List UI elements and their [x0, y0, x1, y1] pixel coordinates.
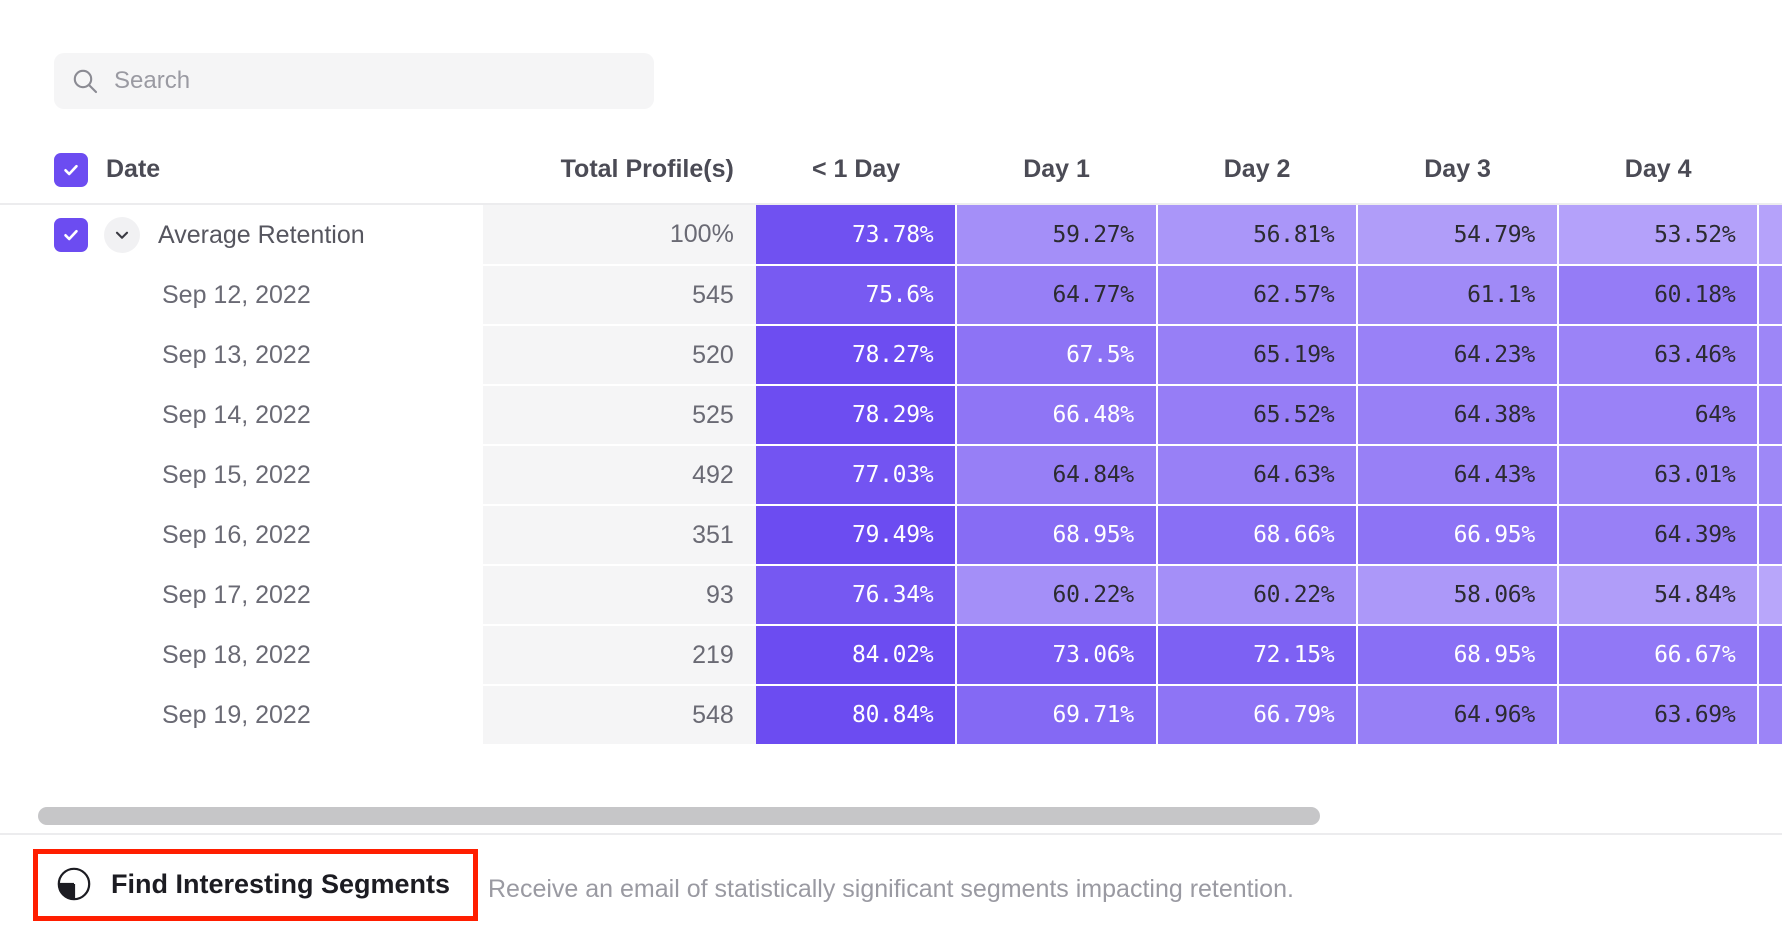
cell-retention-value: 64.96% — [1357, 685, 1558, 745]
cell-total-profiles: 93 — [483, 565, 756, 625]
cell-retention-value: 54.84% — [1558, 565, 1759, 625]
table-row[interactable]: Sep 12, 202254575.6%64.77%62.57%61.1%60.… — [0, 265, 1782, 325]
cell-retention-value: 65.19% — [1157, 325, 1358, 385]
cell-retention-value: 79.49% — [756, 505, 957, 565]
table-row[interactable]: Sep 16, 202235179.49%68.95%68.66%66.95%6… — [0, 505, 1782, 565]
cell-retention-value: 73.06% — [956, 625, 1157, 685]
row-label-date: Sep 18, 2022 — [0, 625, 483, 685]
cell-retention-value: 63.24% — [1758, 385, 1782, 445]
find-interesting-segments-button[interactable]: Find Interesting Segments — [55, 865, 450, 903]
column-header-date-label: Date — [106, 155, 160, 184]
row-label-text: Sep 15, 2022 — [162, 461, 311, 490]
retention-table-scroll[interactable]: Date Total Profile(s) < 1 Day Day 1 Day … — [0, 136, 1782, 796]
cell-retention-value: 63.01% — [1558, 445, 1759, 505]
cell-retention-value: 63.25% — [1758, 505, 1782, 565]
cell-retention-value: 64.77% — [956, 265, 1157, 325]
cell-retention-value: 63.46% — [1558, 325, 1759, 385]
cell-retention-value: 72.15% — [1157, 625, 1358, 685]
cell-retention-value: 77.03% — [756, 445, 957, 505]
row-label-text: Sep 14, 2022 — [162, 401, 311, 430]
cell-retention-value: 64.38% — [1357, 385, 1558, 445]
row-label-date: Sep 17, 2022 — [0, 565, 483, 625]
cell-retention-value: 68.95% — [956, 505, 1157, 565]
cell-retention-value: 64.23% — [1357, 325, 1558, 385]
row-label-text: Average Retention — [158, 221, 365, 250]
row-label-text: Sep 17, 2022 — [162, 581, 311, 610]
cell-retention-value: 59.27% — [956, 204, 1157, 265]
column-header-date: Date — [0, 136, 483, 204]
column-header-day-2[interactable]: Day 2 — [1157, 136, 1358, 204]
search-icon — [72, 68, 98, 94]
cell-retention-value: 62.69% — [1758, 325, 1782, 385]
row-label-date: Sep 13, 2022 — [0, 325, 483, 385]
cell-retention-value: 51.61% — [1758, 565, 1782, 625]
column-header-lt-1-day[interactable]: < 1 Day — [756, 136, 957, 204]
table-row[interactable]: Average Retention100%73.78%59.27%56.81%5… — [0, 204, 1782, 265]
row-label-text: Sep 16, 2022 — [162, 521, 311, 550]
row-label-date: Sep 15, 2022 — [0, 445, 483, 505]
cell-retention-value: 64% — [1558, 385, 1759, 445]
row-label-date: Sep 19, 2022 — [0, 685, 483, 745]
cell-total-profiles: 520 — [483, 325, 756, 385]
cell-total-profiles: 100% — [483, 204, 756, 265]
cell-retention-value: 73.78% — [756, 204, 957, 265]
find-interesting-segments-label: Find Interesting Segments — [111, 869, 450, 900]
cell-retention-value: 84.02% — [756, 625, 957, 685]
cell-retention-value: 64.63% — [1157, 445, 1358, 505]
cell-retention-value: 75.6% — [756, 265, 957, 325]
column-header-day-4[interactable]: Day 4 — [1558, 136, 1759, 204]
segment-pie-icon — [55, 865, 93, 903]
cell-retention-value: 63.32% — [1758, 685, 1782, 745]
cell-retention-value: 67.5% — [956, 325, 1157, 385]
cell-retention-value: 66.67% — [1558, 625, 1759, 685]
cell-retention-value: 61.1% — [1357, 265, 1558, 325]
cell-retention-value: 65.52% — [1157, 385, 1358, 445]
cell-retention-value: 66.21% — [1758, 625, 1782, 685]
horizontal-scrollbar-thumb[interactable] — [38, 807, 1320, 825]
table-body: Average Retention100%73.78%59.27%56.81%5… — [0, 204, 1782, 745]
row-label-text: Sep 13, 2022 — [162, 341, 311, 370]
cell-retention-value: 64.39% — [1558, 505, 1759, 565]
cell-retention-value: 60.18% — [1558, 265, 1759, 325]
column-header-total-profiles[interactable]: Total Profile(s) — [483, 136, 756, 204]
cell-retention-value: 80.84% — [756, 685, 957, 745]
row-label-text: Sep 19, 2022 — [162, 701, 311, 730]
column-header-day-3[interactable]: Day 3 — [1357, 136, 1558, 204]
cell-retention-value: 54.79% — [1357, 204, 1558, 265]
cell-retention-value: 76.34% — [756, 565, 957, 625]
table-row[interactable]: Sep 15, 202249277.03%64.84%64.63%64.43%6… — [0, 445, 1782, 505]
table-row[interactable]: Sep 13, 202252078.27%67.5%65.19%64.23%63… — [0, 325, 1782, 385]
retention-table: Date Total Profile(s) < 1 Day Day 1 Day … — [0, 136, 1782, 746]
search-box[interactable] — [54, 53, 654, 109]
cell-retention-value: 66.95% — [1357, 505, 1558, 565]
cell-retention-value: 58.06% — [1357, 565, 1558, 625]
row-label-date: Sep 12, 2022 — [0, 265, 483, 325]
cell-retention-value: 68.95% — [1357, 625, 1558, 685]
cell-retention-value: 60.22% — [956, 565, 1157, 625]
row-label-text: Sep 12, 2022 — [162, 281, 311, 310]
cell-retention-value: 78.29% — [756, 385, 957, 445]
cell-retention-value: 64.84% — [956, 445, 1157, 505]
row-checkbox[interactable] — [54, 218, 88, 252]
column-header-day-5[interactable]: Day 5 — [1758, 136, 1782, 204]
row-label-date: Sep 14, 2022 — [0, 385, 483, 445]
cell-retention-value: 53.26% — [1758, 204, 1782, 265]
cell-retention-value: 60.22% — [1157, 565, 1358, 625]
cell-retention-value: 62.57% — [1157, 265, 1358, 325]
cell-total-profiles: 219 — [483, 625, 756, 685]
cell-retention-value: 56.81% — [1157, 204, 1358, 265]
cell-total-profiles: 545 — [483, 265, 756, 325]
cell-retention-value: 66.48% — [956, 385, 1157, 445]
table-row[interactable]: Sep 17, 20229376.34%60.22%60.22%58.06%54… — [0, 565, 1782, 625]
table-row[interactable]: Sep 19, 202254880.84%69.71%66.79%64.96%6… — [0, 685, 1782, 745]
cell-retention-value: 63.69% — [1558, 685, 1759, 745]
table-header-row: Date Total Profile(s) < 1 Day Day 1 Day … — [0, 136, 1782, 204]
cell-retention-value: 53.52% — [1558, 204, 1759, 265]
cell-retention-value: 64.43% — [1357, 445, 1558, 505]
cell-retention-value: 59.27% — [1758, 265, 1782, 325]
column-header-day-1[interactable]: Day 1 — [956, 136, 1157, 204]
row-label-date: Sep 16, 2022 — [0, 505, 483, 565]
retention-table-panel: Date Total Profile(s) < 1 Day Day 1 Day … — [0, 0, 1782, 930]
cell-total-profiles: 351 — [483, 505, 756, 565]
cell-retention-value: 78.27% — [756, 325, 957, 385]
cell-total-profiles: 492 — [483, 445, 756, 505]
cell-total-profiles: 548 — [483, 685, 756, 745]
cell-retention-value: 69.71% — [956, 685, 1157, 745]
select-all-checkbox[interactable] — [54, 153, 88, 187]
search-input[interactable] — [114, 67, 636, 95]
cell-retention-value: 66.79% — [1157, 685, 1358, 745]
footer-bar: Find Interesting Segments Receive an ema… — [0, 833, 1782, 930]
table-row[interactable]: Sep 14, 202252578.29%66.48%65.52%64.38%6… — [0, 385, 1782, 445]
cell-total-profiles: 525 — [483, 385, 756, 445]
chevron-down-icon[interactable] — [104, 217, 140, 253]
cell-retention-value: 62.6% — [1758, 445, 1782, 505]
footer-description: Receive an email of statistically signif… — [488, 875, 1294, 904]
row-label-average-retention: Average Retention — [0, 204, 483, 265]
row-label-text: Sep 18, 2022 — [162, 641, 311, 670]
table-row[interactable]: Sep 18, 202221984.02%73.06%72.15%68.95%6… — [0, 625, 1782, 685]
cell-retention-value: 68.66% — [1157, 505, 1358, 565]
